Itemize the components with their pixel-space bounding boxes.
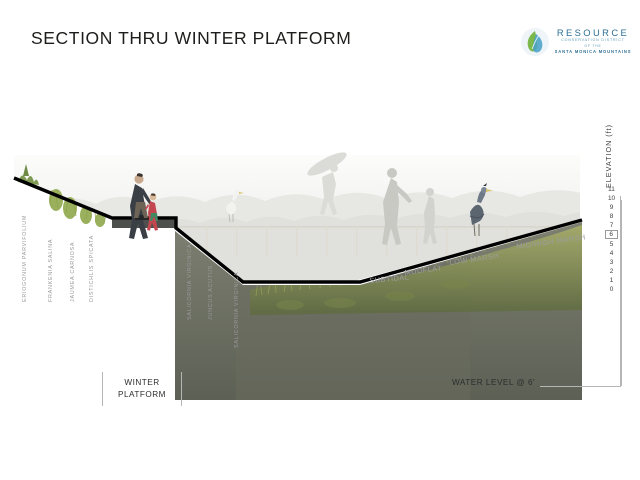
water-level-callout-text: WATER LEVEL @ 6' xyxy=(452,378,535,387)
page-title: SECTION THRU WINTER PLATFORM xyxy=(31,28,351,49)
elevation-tick: 4 xyxy=(606,250,617,257)
elevation-tick-highlighted: 6 xyxy=(605,230,618,239)
logo-subtitle-district: CONSERVATION DISTRICT xyxy=(554,38,632,44)
elevation-tick: 9 xyxy=(606,204,617,211)
elevation-tick: 0 xyxy=(606,286,617,293)
callout-line-2: PLATFORM xyxy=(118,390,166,399)
callout-line-1: WINTER xyxy=(124,378,159,387)
elevation-tick: 5 xyxy=(606,241,617,248)
species-label: SALICORNIA VIRGINICA xyxy=(234,272,240,348)
elevation-axis-title: ELEVATION (ft) xyxy=(604,124,613,188)
elevation-axis: ELEVATION (ft) 11 10 9 8 7 6 5 4 3 2 1 0 xyxy=(592,118,636,398)
elevation-tick: 2 xyxy=(606,268,617,275)
water-level-callout: WATER LEVEL @ 6' xyxy=(452,378,535,387)
species-label: JAUMEA CARNOSA xyxy=(70,242,76,302)
species-label: SALICORNIA VIRGINICA xyxy=(187,244,193,320)
logo-name: RESOURCE xyxy=(554,27,632,38)
water-level-leader-vertical xyxy=(620,196,621,386)
elevation-tick: 3 xyxy=(606,259,617,266)
drawing-sheet: SECTION THRU WINTER PLATFORM RESOURCE CO… xyxy=(0,0,640,480)
elevation-axis-rule xyxy=(621,200,622,386)
species-label: ERIOGONUM PARVIFOLIUM xyxy=(22,215,28,302)
elevation-tick: 1 xyxy=(606,277,617,284)
logo-subtitle-mountains: SANTA MONICA MOUNTAINS xyxy=(554,49,632,55)
species-label: DISTICHLIS SPICATA xyxy=(89,235,95,302)
elevation-tick: 7 xyxy=(606,222,617,229)
elevation-tick: 10 xyxy=(606,195,617,202)
organization-logo: RESOURCE CONSERVATION DISTRICT OF THE SA… xyxy=(520,26,632,60)
species-label: FRANKENIA SALINA xyxy=(48,239,54,302)
winter-platform-callout-text: WINTER PLATFORM xyxy=(102,377,182,400)
section-drawing xyxy=(0,100,640,400)
winter-platform-callout: WINTER PLATFORM xyxy=(102,372,182,406)
water-level-leader-horizontal xyxy=(540,386,621,387)
species-label: JUNCUS ACUTUS xyxy=(208,265,214,320)
elevation-tick: 11 xyxy=(606,186,617,193)
leaf-water-drop-icon xyxy=(520,27,550,57)
elevation-tick: 8 xyxy=(606,213,617,220)
